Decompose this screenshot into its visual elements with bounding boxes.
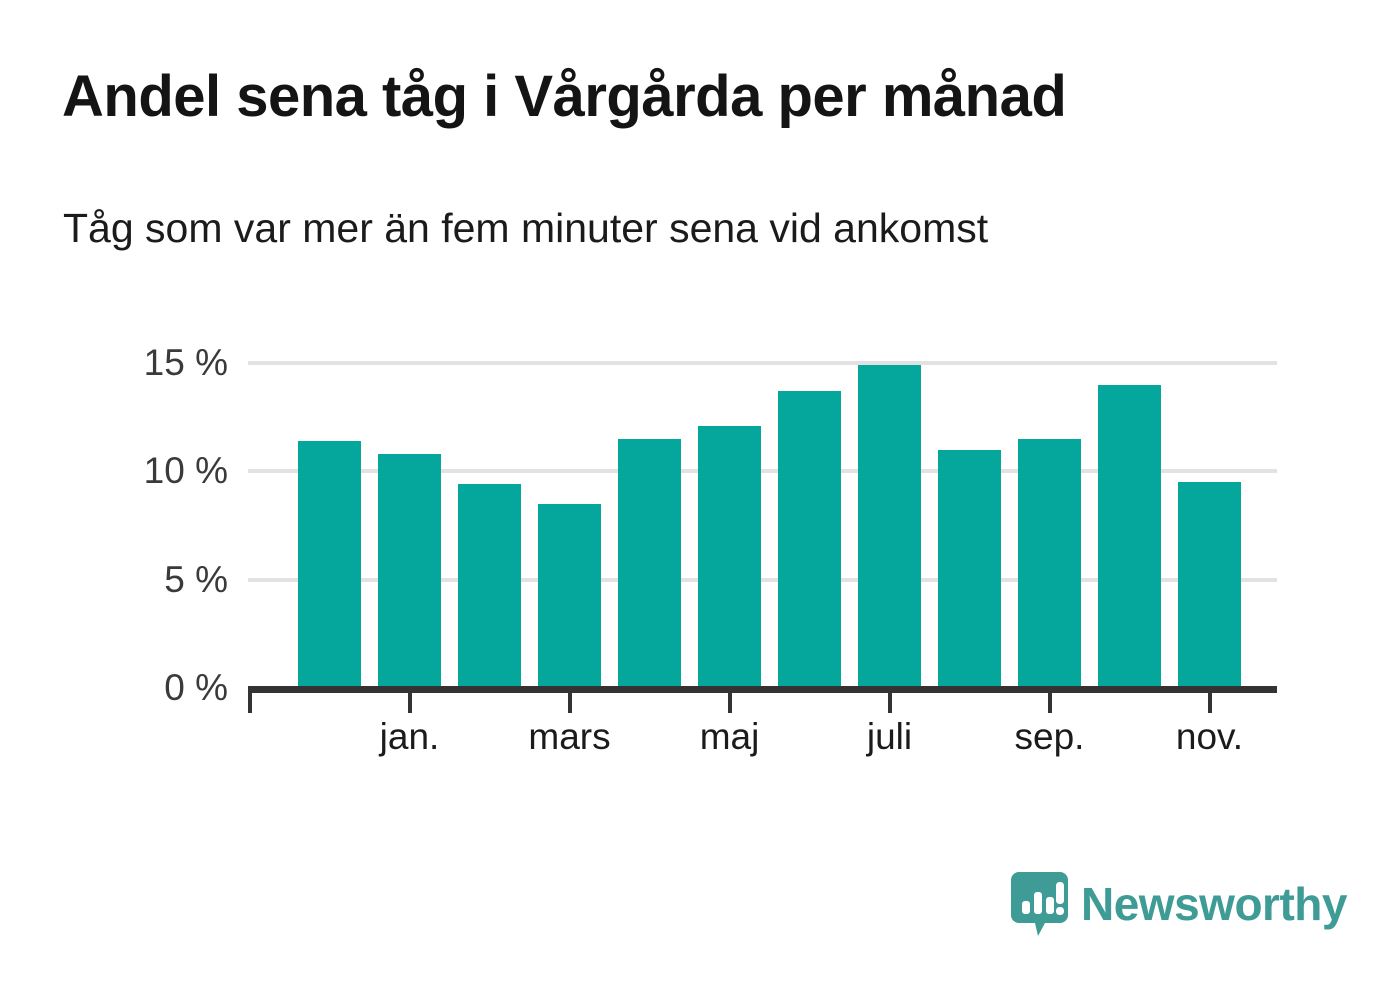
x-axis-tick xyxy=(248,693,252,713)
newsworthy-wordmark: Newsworthy xyxy=(1081,881,1347,927)
x-axis-tick xyxy=(1208,693,1212,713)
x-axis-tick xyxy=(888,693,892,713)
bar xyxy=(458,484,521,688)
bar xyxy=(858,365,921,688)
gridline xyxy=(248,361,1277,365)
bar xyxy=(1018,439,1081,688)
bar xyxy=(698,426,761,688)
x-axis-label: mars xyxy=(528,718,610,755)
bar xyxy=(378,454,441,688)
x-axis-line xyxy=(248,686,1277,693)
x-axis-tick xyxy=(408,693,412,713)
y-axis-label: 15 % xyxy=(0,344,228,381)
bar xyxy=(938,450,1001,688)
x-axis-label: jan. xyxy=(380,718,440,755)
bar xyxy=(618,439,681,688)
bar-chart-plot: 0 %5 %10 %15 % jan.marsmajjulisep.nov. xyxy=(0,0,1382,999)
x-axis-label: maj xyxy=(700,718,760,755)
y-axis-label: 0 % xyxy=(0,669,228,706)
x-axis-tick xyxy=(1048,693,1052,713)
x-axis-tick xyxy=(728,693,732,713)
x-axis-label: sep. xyxy=(1015,718,1085,755)
bar xyxy=(778,391,841,688)
newsworthy-logo: Newsworthy xyxy=(1011,872,1347,936)
x-axis-label: nov. xyxy=(1176,718,1243,755)
y-axis-label: 5 % xyxy=(0,561,228,598)
y-axis-label: 10 % xyxy=(0,452,228,489)
x-axis-tick xyxy=(568,693,572,713)
bar xyxy=(538,504,601,688)
bar xyxy=(1178,482,1241,688)
bar xyxy=(298,441,361,688)
chart-page: Andel sena tåg i Vårgårda per månad Tåg … xyxy=(0,0,1382,999)
bar xyxy=(1098,385,1161,688)
newsworthy-bar-chart-bubble-icon xyxy=(1011,872,1068,936)
x-axis-label: juli xyxy=(867,718,912,755)
